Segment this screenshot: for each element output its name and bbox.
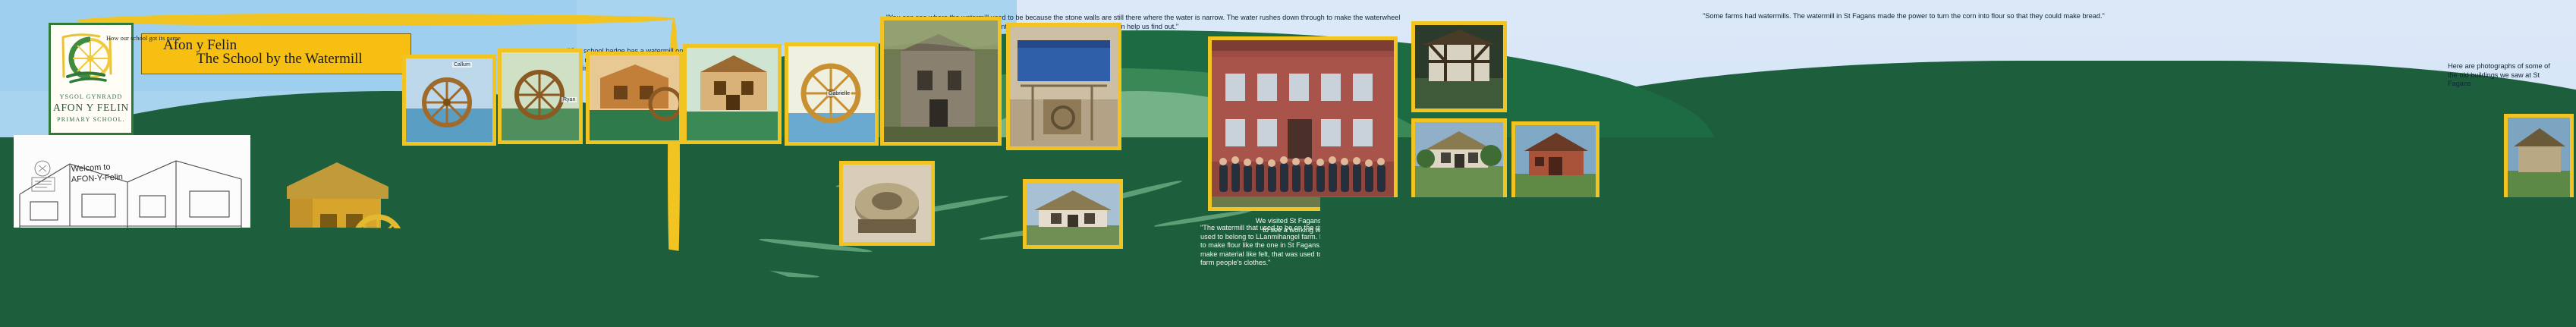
- drawing-mill-scene-orange: [586, 52, 683, 144]
- quote-st-fagans-farms: "Some farms had watermills. The watermil…: [1703, 12, 2188, 21]
- note-photographs: Here are photographs of some of the old …: [2448, 62, 2562, 89]
- badge-line-english: PRIMARY SCHOOL.: [57, 116, 125, 123]
- photo-grinding-stone: [839, 161, 935, 246]
- photo-mill-interior-machinery: [1006, 23, 1121, 150]
- title-banner: Afon y Felin The School by the Watermill: [141, 33, 411, 74]
- badge-line-welsh: YSGOL GYNRADD: [60, 93, 123, 100]
- photo-timber-framed-building: [1411, 21, 1507, 112]
- display-board: YSGOL GYNRADD AFON Y FELIN PRIMARY SCHOO…: [0, 0, 2576, 327]
- label-ryan: Ryan: [561, 97, 577, 102]
- photo-thatched-cottage: [1023, 179, 1123, 249]
- photo-cottage-garden: [1411, 118, 1507, 202]
- foreground-grass-right: [1320, 197, 2576, 327]
- page-subtitle: The School by the Watermill: [197, 51, 363, 68]
- photo-red-barn: [1511, 121, 1599, 203]
- photo-strip-right: [2504, 114, 2574, 205]
- drawing-mill-house: [683, 44, 782, 144]
- drawing-waterwheel-blue: [402, 55, 496, 146]
- title-caption: How our school got its name: [106, 34, 181, 42]
- photo-red-brick-school-group: [1208, 36, 1398, 211]
- badge-line-name: AFON Y FELIN: [53, 102, 129, 114]
- drawing-waterwheel-green: [498, 49, 583, 144]
- photo-stone-mill-ruin: [880, 17, 1002, 146]
- label-gabrielle: Gabrielle: [827, 91, 851, 96]
- label-callum: Callum: [452, 62, 472, 68]
